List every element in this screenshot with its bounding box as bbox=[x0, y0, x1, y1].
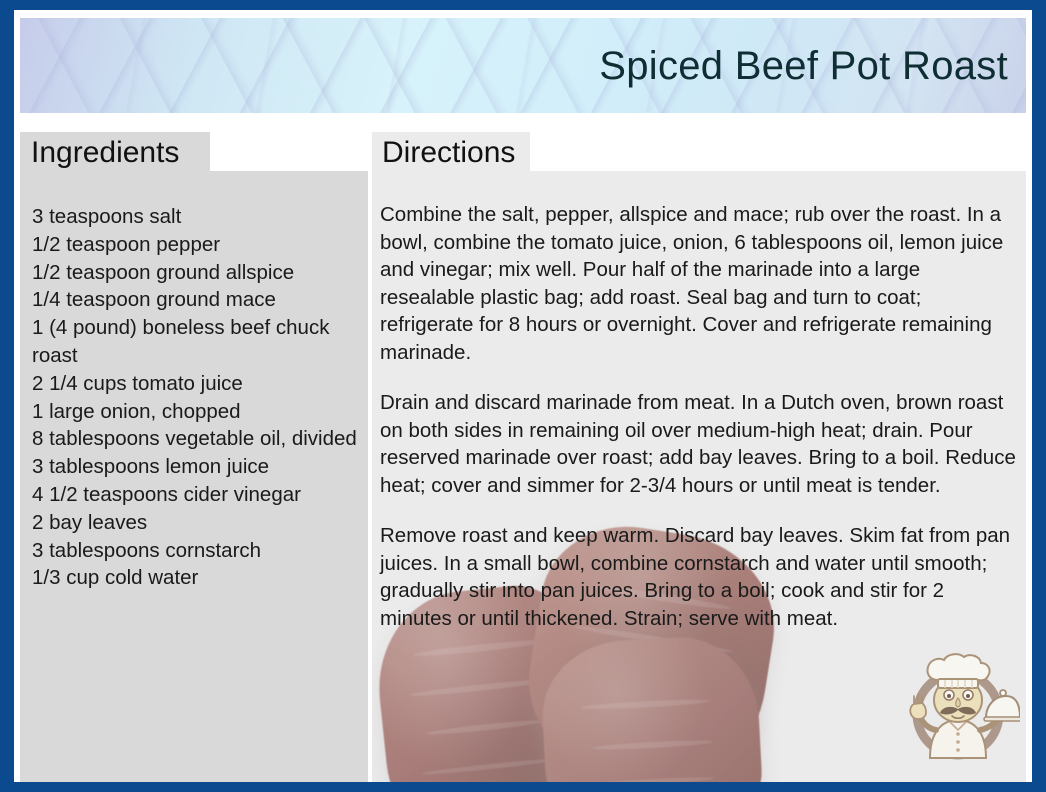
recipe-card: Spiced Beef Pot Roast Ingredients 3 teas… bbox=[0, 0, 1046, 792]
list-item: 1/3 cup cold water bbox=[32, 564, 358, 592]
list-item: 1/2 teaspoon ground allspice bbox=[32, 259, 358, 287]
meat-chunk bbox=[539, 633, 765, 782]
list-item: 1/4 teaspoon ground mace bbox=[32, 286, 358, 314]
recipe-page: Spiced Beef Pot Roast Ingredients 3 teas… bbox=[14, 10, 1032, 782]
header-banner: Spiced Beef Pot Roast bbox=[20, 18, 1026, 113]
list-item: 3 tablespoons cornstarch bbox=[32, 537, 358, 565]
ingredients-panel: 3 teaspoons salt 1/2 teaspoon pepper 1/2… bbox=[20, 171, 368, 782]
chef-mascot-logo bbox=[900, 648, 1020, 768]
ingredient-list: 3 teaspoons salt 1/2 teaspoon pepper 1/2… bbox=[32, 203, 358, 592]
directions-panel: Combine the salt, pepper, allspice and m… bbox=[372, 171, 1026, 782]
list-item: 3 teaspoons salt bbox=[32, 203, 358, 231]
directions-body: Combine the salt, pepper, allspice and m… bbox=[380, 201, 1018, 655]
list-item: 1/2 teaspoon pepper bbox=[32, 231, 358, 259]
ingredients-tab: Ingredients bbox=[20, 132, 210, 171]
list-item: 1 (4 pound) boneless beef chuck roast bbox=[32, 314, 358, 370]
directions-heading: Directions bbox=[382, 136, 515, 170]
list-item: 2 bay leaves bbox=[32, 509, 358, 537]
list-item: 8 tablespoons vegetable oil, divided bbox=[32, 425, 358, 453]
list-item: 4 1/2 teaspoons cider vinegar bbox=[32, 481, 358, 509]
direction-paragraph: Drain and discard marinade from meat. In… bbox=[380, 389, 1018, 499]
list-item: 3 tablespoons lemon juice bbox=[32, 453, 358, 481]
list-item: 2 1/4 cups tomato juice bbox=[32, 370, 358, 398]
list-item: 1 large onion, chopped bbox=[32, 398, 358, 426]
ingredients-heading: Ingredients bbox=[31, 136, 179, 170]
page-title: Spiced Beef Pot Roast bbox=[599, 45, 1008, 87]
direction-paragraph: Combine the salt, pepper, allspice and m… bbox=[380, 201, 1018, 366]
directions-tab: Directions bbox=[372, 132, 530, 171]
direction-paragraph: Remove roast and keep warm. Discard bay … bbox=[380, 522, 1018, 632]
